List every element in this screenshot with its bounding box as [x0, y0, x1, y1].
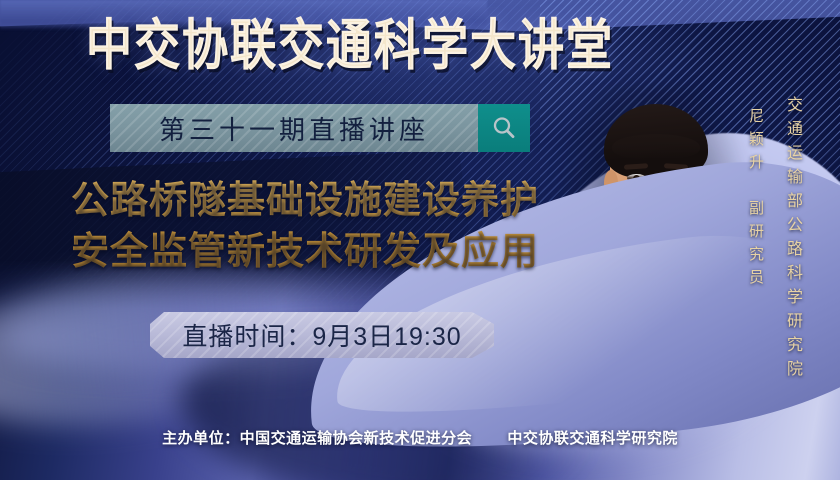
organizer-footer: 主办单位：中国交通运输协会新技术促进分会 中交协联交通科学研究院	[0, 427, 840, 448]
episode-bar-body: 第三十一期直播讲座	[110, 104, 478, 152]
broadcast-time-label: 直播时间：9月3日19:30	[182, 317, 461, 353]
search-icon	[490, 114, 518, 142]
speaker-organization: 交通运输部公路科学研究院	[780, 96, 804, 384]
lecture-headline: 公路桥隧基础设施建设养护 安全监管新技术研发及应用	[32, 176, 578, 277]
episode-bar: 第三十一期直播讲座	[110, 104, 530, 152]
promo-poster: 中交协联交通科学大讲堂 第三十一期直播讲座 公路桥隧基础设施建设养护 安全监管新…	[0, 0, 840, 480]
search-icon-box[interactable]	[478, 104, 530, 152]
headline-line-2: 安全监管新技术研发及应用	[32, 227, 578, 278]
headline-line-1: 公路桥隧基础设施建设养护	[32, 176, 578, 227]
broadcast-time-pill: 直播时间：9月3日19:30	[150, 312, 494, 358]
episode-label: 第三十一期直播讲座	[159, 110, 429, 147]
organizer-primary: 主办单位：中国交通运输协会新技术促进分会	[162, 430, 472, 447]
speaker-name-title: 尼颖升 副研究员	[745, 108, 766, 292]
organizer-secondary: 中交协联交通科学研究院	[507, 430, 678, 447]
page-title: 中交协联交通科学大讲堂	[0, 18, 700, 72]
portrait-hair-fringe	[612, 134, 700, 160]
